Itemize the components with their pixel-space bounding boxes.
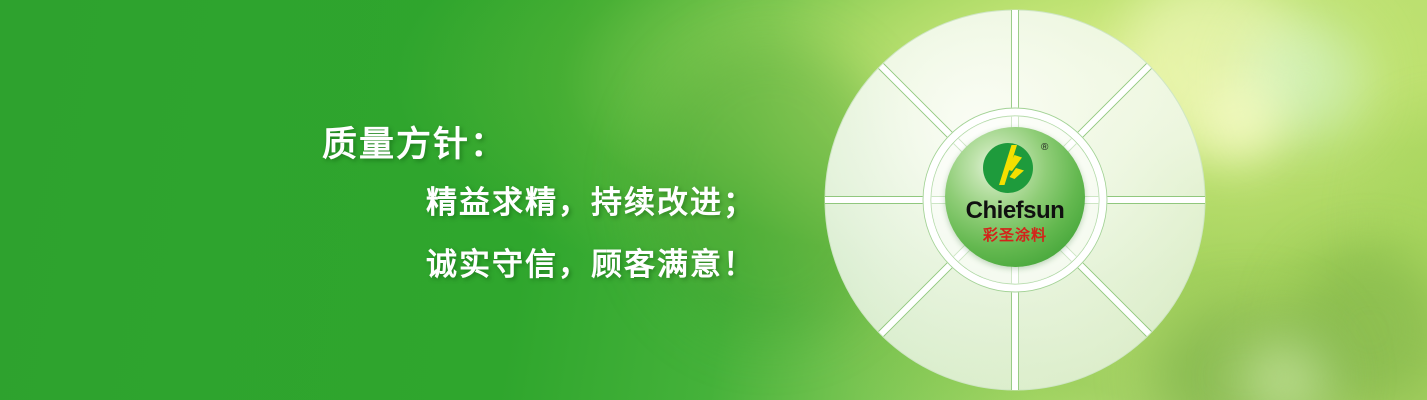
chiefsun-emblem-icon: [981, 141, 1035, 195]
slogan-line-2: 精益求精，持续改进；: [318, 172, 788, 234]
logo-wordmark: Chiefsun: [945, 197, 1085, 225]
quality-policy-slogan: 质量方针： 精益求精，持续改进； 诚实守信，顾客满意！: [318, 118, 788, 296]
slogan-line-1: 质量方针：: [318, 118, 788, 172]
logo-chinese-name: 彩圣涂料: [945, 224, 1085, 245]
promo-banner: 质量方针： 精益求精，持续改进； 诚实守信，顾客满意！: [0, 0, 1427, 400]
slogan-line-3: 诚实守信，顾客满意！: [318, 234, 788, 296]
registered-trademark-icon: ®: [1041, 143, 1048, 153]
brand-logo-sphere[interactable]: ® Chiefsun 彩圣涂料: [945, 127, 1085, 267]
